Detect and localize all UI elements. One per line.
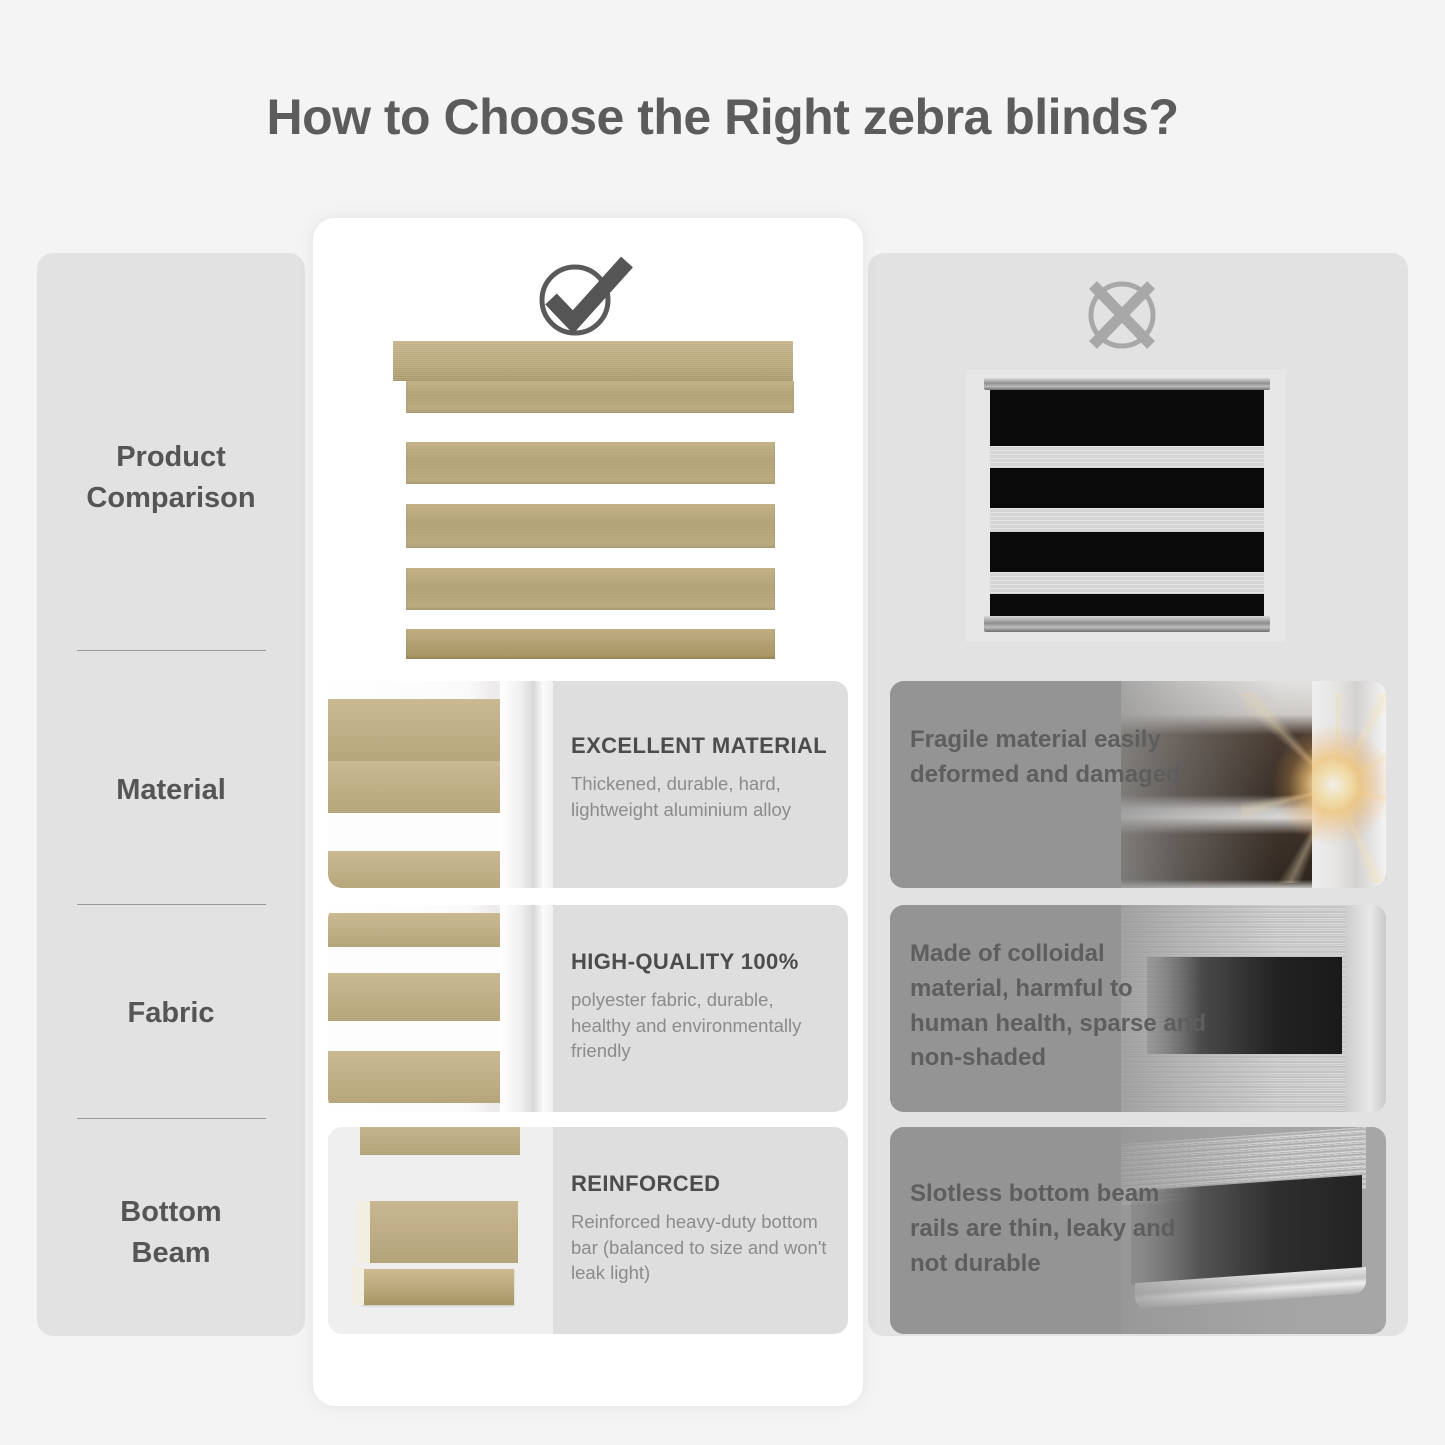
bad-card-fabric: Made of colloidal material, harmful to h…	[890, 905, 1386, 1112]
row-label-bottom-beam: Bottom Beam	[37, 1192, 305, 1274]
blind-band-sheer	[990, 446, 1264, 468]
tan-fabric-closeup-photo	[328, 905, 553, 1112]
bad-card-text: Slotless bottom beam rails are thin, lea…	[890, 1127, 1210, 1334]
good-card-bottom-beam: REINFORCED Reinforced heavy-duty bottom …	[328, 1127, 848, 1334]
row-label-fabric: Fabric	[37, 993, 305, 1034]
blind-band-sheer	[990, 572, 1264, 594]
tan-bottom-bar-closeup-photo	[328, 1127, 553, 1334]
bad-card-material: Fragile material easily deformed and dam…	[890, 681, 1386, 888]
card-heading: EXCELLENT MATERIAL	[571, 733, 848, 759]
headrail	[984, 378, 1270, 390]
blind-band-dark	[990, 594, 1264, 618]
blind-band-dark	[990, 390, 1264, 446]
card-text: REINFORCED Reinforced heavy-duty bottom …	[553, 1127, 848, 1334]
window-moulding	[500, 681, 553, 888]
bad-card-text: Made of colloidal material, harmful to h…	[890, 905, 1210, 1112]
bad-hero-image	[966, 370, 1286, 642]
card-heading: HIGH-QUALITY 100%	[571, 949, 848, 975]
good-hero-image	[384, 341, 794, 666]
row-label-line1: Bottom	[37, 1192, 305, 1233]
blind-slat	[328, 699, 500, 761]
blind-slat	[406, 568, 775, 610]
row-label-product-comparison: Product Comparison	[37, 437, 305, 519]
blind-sheer-gap	[328, 1021, 500, 1051]
blind-photo-background	[328, 1127, 553, 1334]
blind-slat	[406, 442, 775, 484]
row-label-material: Material	[37, 770, 305, 811]
bottom-bar-cap	[352, 1267, 364, 1305]
blind-slat	[328, 1051, 500, 1103]
blind-slat	[406, 504, 775, 548]
blind-slat	[328, 913, 500, 947]
cross-circle-icon	[1077, 273, 1167, 353]
blind-sheer-gap	[328, 813, 500, 851]
blind-slat	[328, 973, 500, 1021]
blind-slat	[328, 761, 500, 813]
tan-blind-closeup-photo	[328, 681, 553, 888]
blind-slat	[360, 1127, 520, 1155]
page-title: How to Choose the Right zebra blinds?	[0, 88, 1445, 146]
blind-band-dark	[990, 468, 1264, 508]
good-card-material: EXCELLENT MATERIAL Thickened, durable, h…	[328, 681, 848, 888]
bad-card-text: Fragile material easily deformed and dam…	[890, 681, 1210, 888]
blind-slat	[368, 1201, 518, 1263]
bad-card-bottom-beam: Slotless bottom beam rails are thin, lea…	[890, 1127, 1386, 1334]
card-body: Thickened, durable, hard, lightweight al…	[571, 771, 829, 822]
card-body: polyester fabric, durable, healthy and e…	[571, 987, 829, 1064]
blind-slat-cap	[356, 1201, 370, 1263]
row-label-line1: Product	[37, 437, 305, 478]
bottom-rail	[984, 616, 1270, 632]
row-label-line2: Comparison	[37, 478, 305, 519]
good-card-fabric: HIGH-QUALITY 100% polyester fabric, dura…	[328, 905, 848, 1112]
blind-band-sheer	[990, 508, 1264, 532]
bottom-bar	[362, 1269, 514, 1305]
window-moulding	[500, 905, 553, 1112]
blind-sheer-gap	[328, 947, 500, 973]
label-divider	[77, 650, 266, 651]
card-body: Reinforced heavy-duty bottom bar (balanc…	[571, 1209, 829, 1286]
check-circle-icon	[531, 254, 635, 340]
blind-slat	[406, 381, 794, 413]
blind-slat	[328, 851, 500, 888]
row-label-line2: Beam	[37, 1233, 305, 1274]
card-text: EXCELLENT MATERIAL Thickened, durable, h…	[553, 681, 848, 888]
card-text: HIGH-QUALITY 100% polyester fabric, dura…	[553, 905, 848, 1112]
blind-bottom-bar	[406, 629, 775, 659]
label-divider	[77, 904, 266, 905]
card-heading: REINFORCED	[571, 1171, 848, 1197]
headrail	[393, 341, 793, 381]
blind-band-dark	[990, 532, 1264, 572]
label-divider	[77, 1118, 266, 1119]
